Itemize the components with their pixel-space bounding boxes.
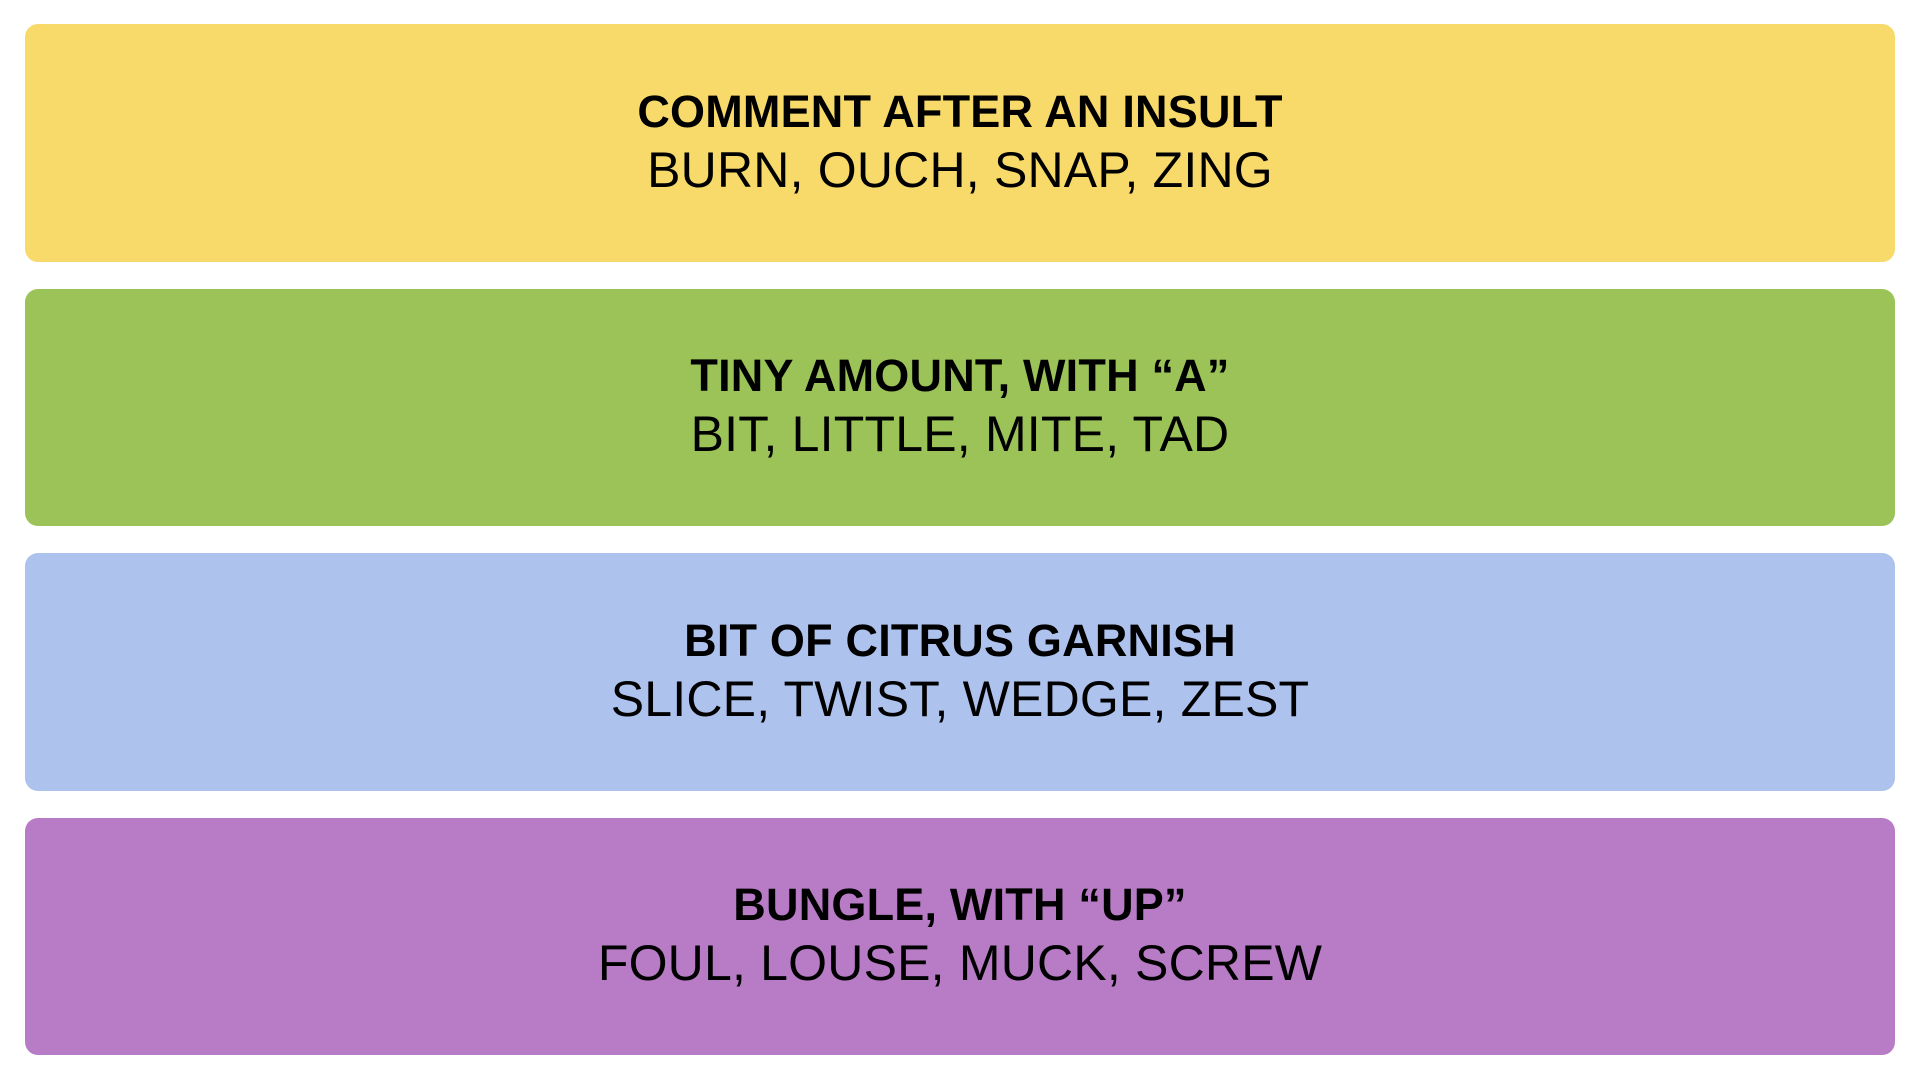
group-title: TINY AMOUNT, WITH “A” xyxy=(690,352,1229,401)
group-words: FOUL, LOUSE, MUCK, SCREW xyxy=(598,936,1322,991)
group-words: BIT, LITTLE, MITE, TAD xyxy=(691,407,1230,462)
group-card-yellow[interactable]: COMMENT AFTER AN INSULT BURN, OUCH, SNAP… xyxy=(25,24,1895,262)
group-title: COMMENT AFTER AN INSULT xyxy=(637,88,1282,137)
group-card-purple[interactable]: BUNGLE, WITH “UP” FOUL, LOUSE, MUCK, SCR… xyxy=(25,818,1895,1056)
group-title: BIT OF CITRUS GARNISH xyxy=(684,617,1236,666)
connections-answer-board: COMMENT AFTER AN INSULT BURN, OUCH, SNAP… xyxy=(0,0,1920,1080)
group-words: BURN, OUCH, SNAP, ZING xyxy=(647,143,1273,198)
group-card-green[interactable]: TINY AMOUNT, WITH “A” BIT, LITTLE, MITE,… xyxy=(25,289,1895,527)
group-card-blue[interactable]: BIT OF CITRUS GARNISH SLICE, TWIST, WEDG… xyxy=(25,553,1895,791)
group-words: SLICE, TWIST, WEDGE, ZEST xyxy=(611,672,1310,727)
group-title: BUNGLE, WITH “UP” xyxy=(733,881,1186,930)
